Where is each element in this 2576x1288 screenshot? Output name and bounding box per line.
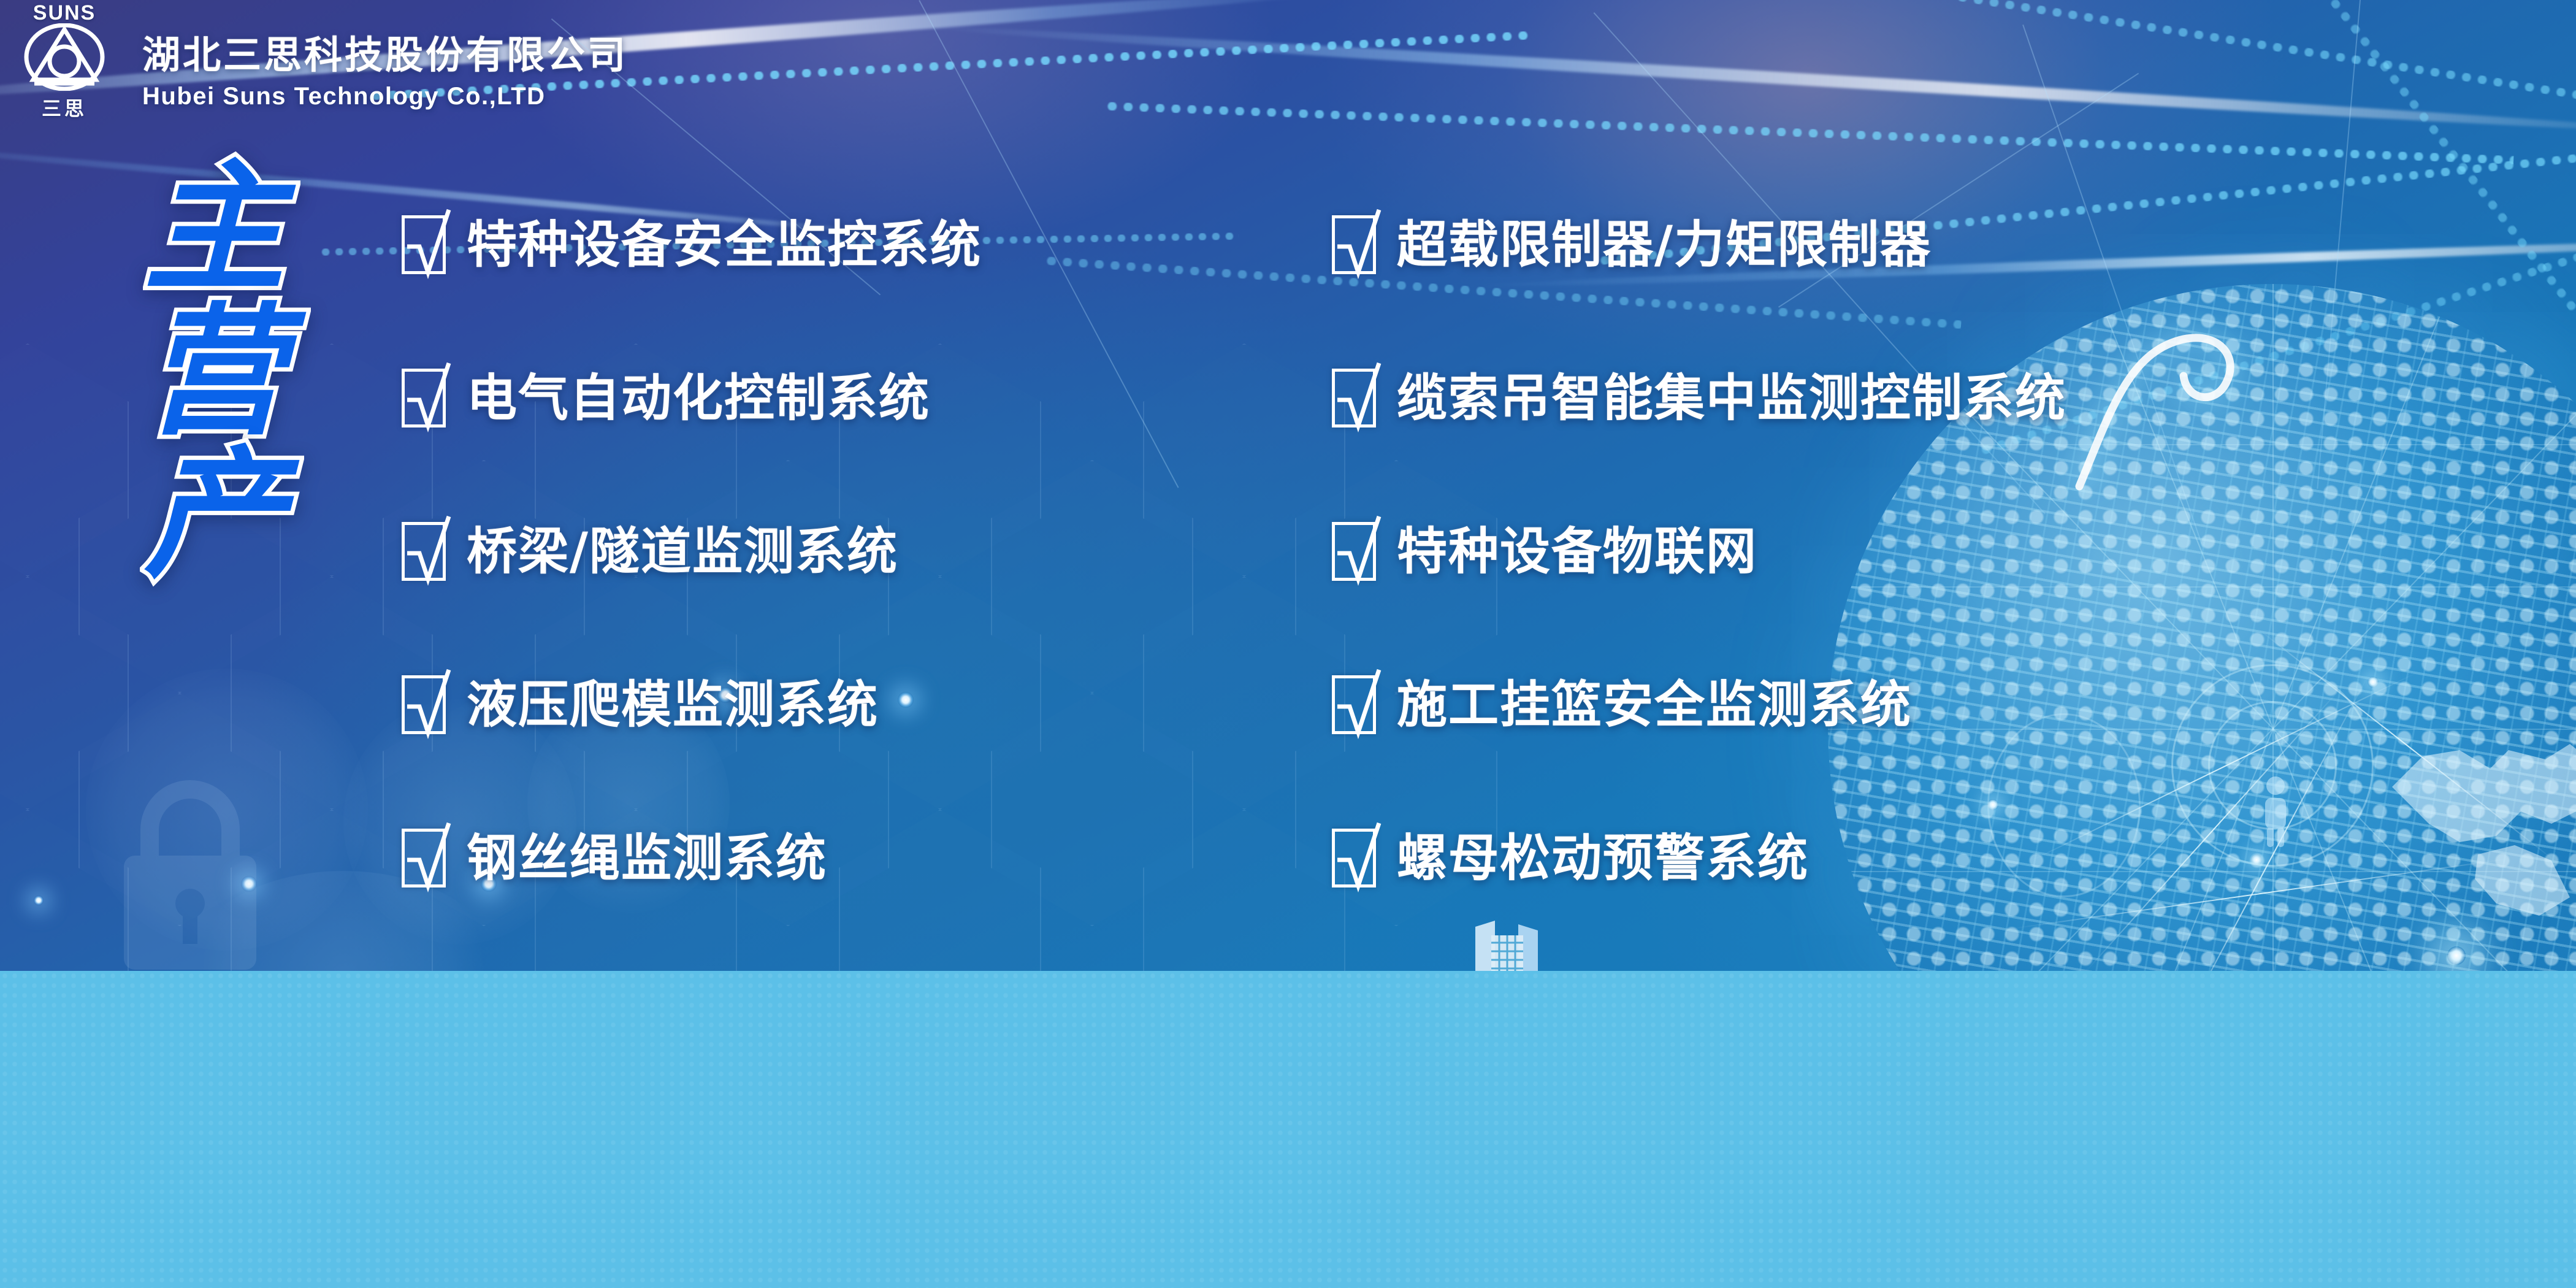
dotted-arc [1104,102,2514,164]
product-item[interactable]: 施工挂篮安全监测系统 [1332,669,2066,741]
checkmark-icon [402,675,446,734]
product-label: 桥梁/隧道监测系统 [467,526,898,577]
product-label: 钢丝绳监测系统 [467,833,827,883]
checkmark-icon [1332,675,1376,734]
checkmark-icon [402,522,446,581]
dotted-arc [1978,239,2576,456]
headline-char-2: 营 [92,308,337,438]
product-label: 螺母松动预警系统 [1397,833,1809,883]
person-icon [2257,775,2294,848]
checkmark-icon [1332,522,1376,581]
checkmark-icon [402,369,446,427]
product-item[interactable]: 钢丝绳监测系统 [402,822,982,894]
checkmark-icon [402,829,446,887]
light-streak [921,21,2576,139]
poster-canvas: SUNS 三思 湖北三思科技股份有限公司 Hubei Suns Technolo… [0,0,2576,1288]
lock-watermark-icon [98,770,282,971]
continent-shape [2368,713,2576,922]
company-name-en: Hubei Suns Technology Co.,LTD [142,83,628,110]
light-swoosh [2055,302,2374,505]
product-label: 液压爬模监测系统 [467,680,879,730]
product-item[interactable]: 螺母松动预警系统 [1332,822,2066,894]
lens-flare-blob [86,669,368,951]
headline-char-3: 产 [92,451,337,581]
product-item[interactable]: 缆索吊智能集中监测控制系统 [1332,362,2066,434]
suns-circle-triangle-mark [21,23,108,91]
product-label: 电气自动化控制系统 [467,373,930,423]
checkmark-icon [1332,829,1376,887]
product-list-right: 超载限制器/力矩限制器 缆索吊智能集中监测控制系统 特种设备物联网 施工挂篮安全… [1332,209,2066,971]
product-item[interactable]: 特种设备物联网 [1332,515,2066,588]
network-line [2317,0,2361,489]
product-item[interactable]: 电气自动化控制系统 [402,362,982,434]
logo-brand-cn: 三思 [6,99,123,118]
dotted-arc [2249,0,2576,335]
product-item[interactable]: 桥梁/隧道监测系统 [402,515,982,588]
product-label: 施工挂篮安全监测系统 [1397,680,1912,730]
product-label: 特种设备物联网 [1397,526,1757,577]
product-item[interactable]: 液压爬模监测系统 [402,669,982,741]
company-name-block: 湖北三思科技股份有限公司 Hubei Suns Technology Co.,L… [142,36,628,110]
dotted-arc [1844,0,2576,108]
product-list-left: 特种设备安全监控系统 电气自动化控制系统 桥梁/隧道监测系统 液压爬模监测系统 [402,209,982,971]
bottom-panel-texture [0,971,2576,1288]
banner-background: SUNS 三思 湖北三思科技股份有限公司 Hubei Suns Technolo… [0,0,2576,971]
headline-main-business: 主 营 产 [92,164,337,594]
glow-node [241,876,257,892]
checkmark-icon [1332,369,1376,427]
glow-node [34,895,44,905]
product-label: 缆索吊智能集中监测控制系统 [1397,373,2066,423]
product-label: 超载限制器/力矩限制器 [1397,220,1932,270]
logo-brand-latin: SUNS [6,2,123,23]
headline-char-1: 主 [92,164,337,294]
company-logo: SUNS 三思 [6,2,123,116]
product-item[interactable]: 特种设备安全监控系统 [402,209,982,281]
company-name-cn: 湖北三思科技股份有限公司 [142,36,628,77]
checkmark-icon [1332,215,1376,274]
checkmark-icon [402,215,446,274]
product-label: 特种设备安全监控系统 [467,220,982,270]
product-item[interactable]: 超载限制器/力矩限制器 [1332,209,2066,281]
bottom-panel [0,971,2576,1288]
